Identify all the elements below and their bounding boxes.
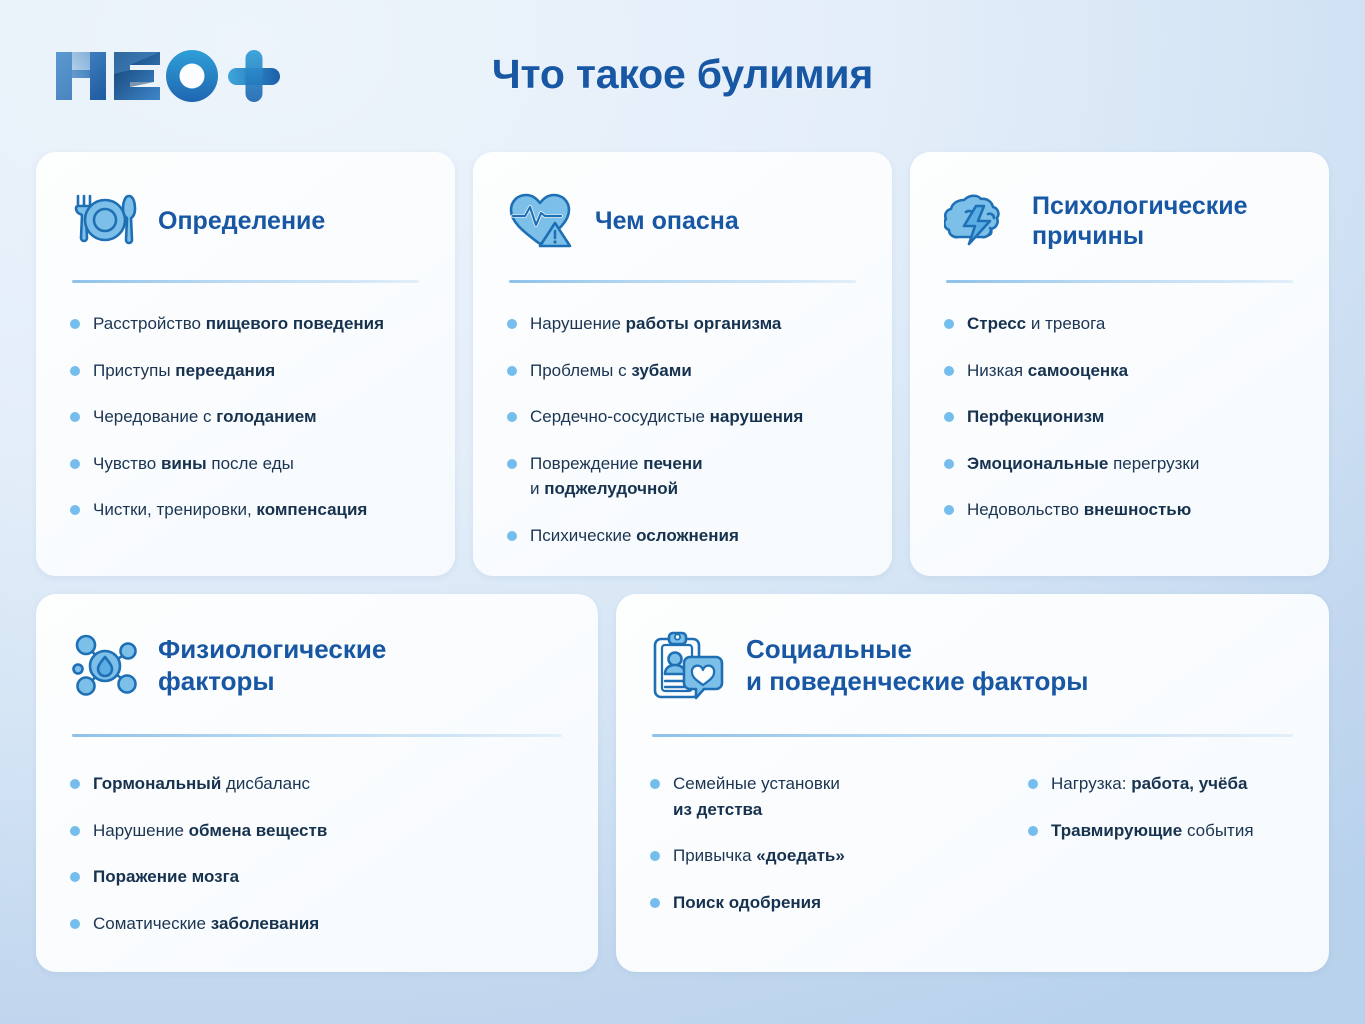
list-item-label: Нарушение работы организма [530,311,781,337]
list-item-label: Проблемы с зубами [530,358,692,384]
list-item: Нарушение работы организма [507,311,862,337]
list-item-label: Приступы переедания [93,358,275,384]
card-divider [509,280,856,283]
list-item-label: Семейные установкииз детства [673,771,840,822]
card-divider [72,280,419,283]
list-item: Стресс и тревога [944,311,1299,337]
card-header: Психологическиепричины [940,178,1299,264]
list-item-label: Чередование с голоданием [93,404,317,430]
bullet-dot-icon [507,319,517,329]
bullet-dot-icon [70,779,80,789]
bullet-column-left: Семейные установкииз детстваПривычка «до… [646,737,976,915]
bullet-dot-icon [70,919,80,929]
list-item: Травмирующие события [1028,818,1324,844]
bullet-list: Нагрузка: работа, учёбаТравмирующие собы… [1024,771,1324,843]
card-header: Определение [66,178,425,264]
bullet-list: Стресс и тревогаНизкая самооценкаПерфекц… [940,311,1299,523]
list-item-label: Низкая самооценка [967,358,1128,384]
list-item-label: Нагрузка: работа, учёба [1051,771,1247,797]
card-physiological-factors: Физиологическиефакторы Гормональный дисб… [36,594,598,972]
list-item: Недовольство внешностью [944,497,1299,523]
bullet-columns: Семейные установкииз детстваПривычка «до… [646,737,1299,915]
list-item-label: Повреждение печении поджелудочной [530,451,703,502]
bullet-list: Расстройство пищевого поведенияПриступы … [66,311,425,523]
brain-lightning-icon [944,186,1014,256]
bullet-dot-icon [70,366,80,376]
card-title: Физиологическиефакторы [158,634,386,697]
bullet-dot-icon [507,412,517,422]
list-item-label: Травмирующие события [1051,818,1254,844]
list-item: Приступы переедания [70,358,425,384]
list-item: Нагрузка: работа, учёба [1028,771,1324,797]
list-item: Поражение мозга [70,864,568,890]
list-item: Нарушение обмена веществ [70,818,568,844]
cards-board: Определение Расстройство пищевого поведе… [36,152,1329,972]
list-item-label: Сердечно-сосудистые нарушения [530,404,803,430]
list-item-label: Стресс и тревога [967,311,1105,337]
heart-pulse-warning-icon [507,186,577,256]
bullet-dot-icon [650,779,660,789]
list-item-label: Перфекционизм [967,404,1104,430]
card-divider [946,280,1293,283]
bullet-dot-icon [944,459,954,469]
page-header: Что такое булимия [0,0,1365,150]
list-item-label: Чувство вины после еды [93,451,294,477]
cards-row-top: Определение Расстройство пищевого поведе… [36,152,1329,576]
card-title: Чем опасна [595,206,739,237]
list-item-label: Нарушение обмена веществ [93,818,327,844]
bullet-dot-icon [70,505,80,515]
bullet-dot-icon [650,851,660,861]
molecule-droplet-icon [70,631,140,701]
bullet-dot-icon [944,505,954,515]
list-item-label: Психические осложнения [530,523,739,549]
bullet-dot-icon [944,366,954,376]
card-title: Определение [158,206,325,237]
list-item: Расстройство пищевого поведения [70,311,425,337]
list-item: Эмоциональные перегрузки [944,451,1299,477]
list-item-label: Поиск одобрения [673,890,821,916]
list-item: Привычка «доедать» [650,843,976,869]
list-item: Семейные установкииз детства [650,771,976,822]
list-item-label: Гормональный дисбаланс [93,771,310,797]
card-header: Физиологическиефакторы [66,620,568,712]
list-item: Психические осложнения [507,523,862,549]
bullet-dot-icon [70,319,80,329]
bullet-dot-icon [944,412,954,422]
card-title: Социальныеи поведенческие факторы [746,634,1089,697]
bullet-dot-icon [70,459,80,469]
bullet-dot-icon [507,459,517,469]
bullet-dot-icon [70,872,80,882]
bullet-dot-icon [650,898,660,908]
list-item-label: Расстройство пищевого поведения [93,311,384,337]
cards-row-bottom: Физиологическиефакторы Гормональный дисб… [36,594,1329,972]
card-definition: Определение Расстройство пищевого поведе… [36,152,455,576]
card-divider [72,734,562,737]
list-item: Поиск одобрения [650,890,976,916]
list-item-label: Недовольство внешностью [967,497,1191,523]
bullet-dot-icon [1028,826,1038,836]
page-title: Что такое булимия [0,51,1365,98]
list-item: Чередование с голоданием [70,404,425,430]
card-dangers: Чем опасна Нарушение работы организмаПро… [473,152,892,576]
card-title: Психологическиепричины [1032,191,1248,252]
list-item-label: Соматические заболевания [93,911,319,937]
list-item: Повреждение печении поджелудочной [507,451,862,502]
list-item-label: Чистки, тренировки, компенсация [93,497,367,523]
list-item: Чистки, тренировки, компенсация [70,497,425,523]
list-item: Проблемы с зубами [507,358,862,384]
card-social-behavioral-factors: Социальныеи поведенческие факторы Семейн… [616,594,1329,972]
card-header: Чем опасна [503,178,862,264]
bullet-list: Семейные установкииз детстваПривычка «до… [646,771,976,915]
list-item: Перфекционизм [944,404,1299,430]
list-item-label: Привычка «доедать» [673,843,845,869]
bullet-dot-icon [507,531,517,541]
bullet-list: Гормональный дисбалансНарушение обмена в… [66,771,568,936]
list-item: Гормональный дисбаланс [70,771,568,797]
list-item: Соматические заболевания [70,911,568,937]
bullet-dot-icon [507,366,517,376]
plate-fork-knife-icon [70,186,140,256]
card-psychological-causes: Психологическиепричины Стресс и тревогаН… [910,152,1329,576]
list-item: Низкая самооценка [944,358,1299,384]
bullet-column-right: Нагрузка: работа, учёбаТравмирующие собы… [1024,737,1324,915]
bullet-dot-icon [70,412,80,422]
bullet-dot-icon [70,826,80,836]
clipboard-person-heart-icon [650,627,728,705]
bullet-dot-icon [944,319,954,329]
list-item: Сердечно-сосудистые нарушения [507,404,862,430]
card-header: Социальныеи поведенческие факторы [646,620,1299,712]
bullet-dot-icon [1028,779,1038,789]
list-item-label: Эмоциональные перегрузки [967,451,1199,477]
bullet-list: Нарушение работы организмаПроблемы с зуб… [503,311,862,548]
list-item: Чувство вины после еды [70,451,425,477]
list-item-label: Поражение мозга [93,864,239,890]
